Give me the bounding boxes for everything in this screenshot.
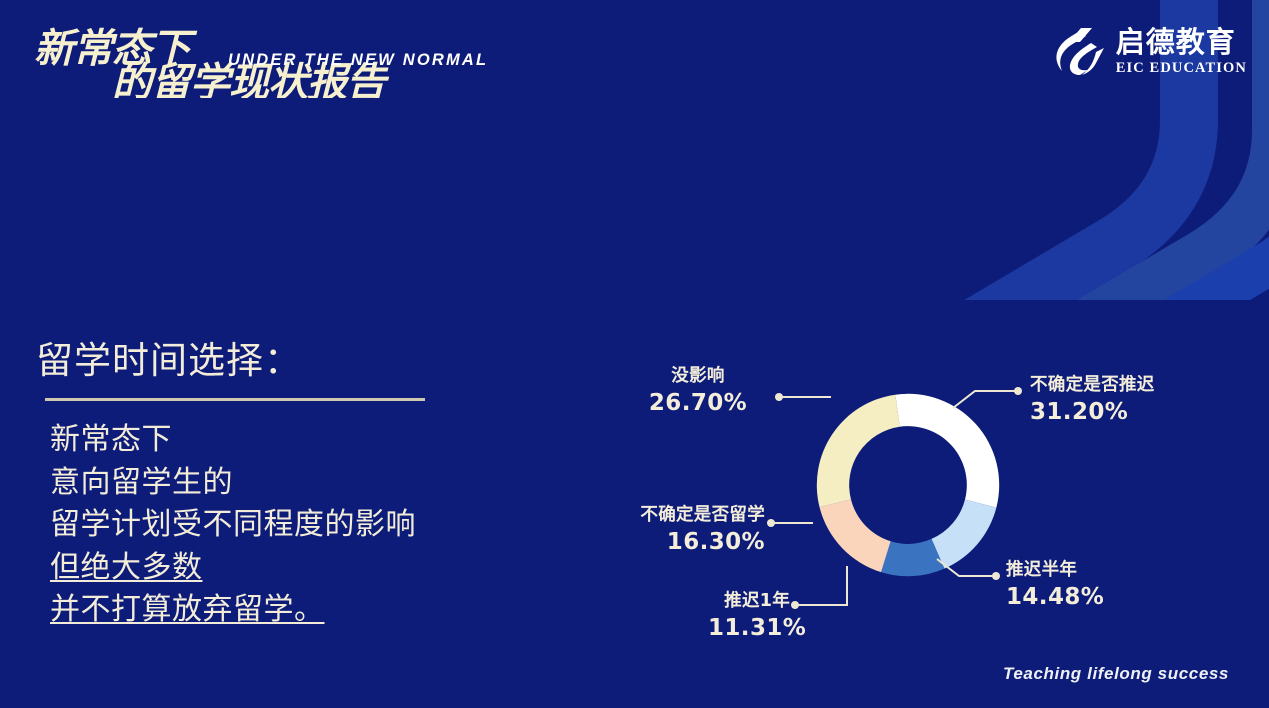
brand-name-english: EIC EDUCATION [1116, 61, 1247, 76]
callout-label: 推迟半年 [1006, 559, 1104, 581]
leader-undecided-delay [953, 391, 1018, 408]
callout-undecided-delay: 不确定是否推迟 31.20% [1030, 374, 1155, 428]
donut-chart: 不确定是否推迟 31.20% 推迟半年 14.48% 推迟1年 11.31% 不… [575, 348, 1240, 648]
copy-line: 新常态下 [50, 419, 506, 462]
leader-dot-delay-half [992, 572, 1000, 580]
leader-dot-no-impact [775, 393, 783, 401]
leader-dot-undecided-delay [1014, 387, 1022, 395]
callout-undecided-study: 不确定是否留学 16.30% [575, 504, 765, 558]
eic-swoosh-icon [1050, 26, 1106, 78]
copy-heading: 留学时间选择： [36, 330, 506, 384]
callout-label: 不确定是否留学 [575, 504, 765, 526]
copy-divider [45, 398, 425, 401]
copy-line: 但绝大多数 [50, 547, 506, 590]
callout-value: 11.31% [708, 614, 806, 643]
footer-tagline: Teaching lifelong success [1003, 664, 1229, 684]
callout-value: 14.48% [1006, 583, 1104, 612]
callout-delay-one: 推迟1年 11.31% [708, 590, 806, 644]
slide-title-lockup: 新常态下 的留学现状报告 UNDER THE NEW NORMAL [28, 20, 488, 98]
callout-label: 推迟1年 [708, 590, 806, 612]
brand-logo: 启德教育 EIC EDUCATION [1050, 26, 1247, 78]
callout-label: 没影响 [623, 365, 773, 387]
callout-value: 31.20% [1030, 398, 1155, 427]
callout-value: 16.30% [575, 528, 765, 557]
copy-block: 留学时间选择： 新常态下意向留学生的留学计划受不同程度的影响但绝大多数并不打算放… [36, 330, 506, 632]
leader-delay-half [937, 559, 996, 576]
slide-canvas: 新常态下 的留学现状报告 UNDER THE NEW NORMAL 启德教育 E… [0, 0, 1269, 708]
callout-label: 不确定是否推迟 [1030, 374, 1155, 396]
brand-name-chinese: 启德教育 [1116, 28, 1247, 57]
leader-dot-undecided-study [767, 519, 775, 527]
copy-line: 并不打算放弃留学。 [50, 589, 506, 632]
copy-line: 意向留学生的 [50, 462, 506, 505]
callout-delay-half: 推迟半年 14.48% [1006, 559, 1104, 613]
callout-no-impact: 没影响 26.70% [623, 365, 773, 419]
copy-line: 留学计划受不同程度的影响 [50, 504, 506, 547]
copy-body-lines: 新常态下意向留学生的留学计划受不同程度的影响但绝大多数并不打算放弃留学。 [50, 419, 506, 632]
callout-value: 26.70% [623, 389, 773, 418]
title-english: UNDER THE NEW NORMAL [228, 51, 488, 70]
